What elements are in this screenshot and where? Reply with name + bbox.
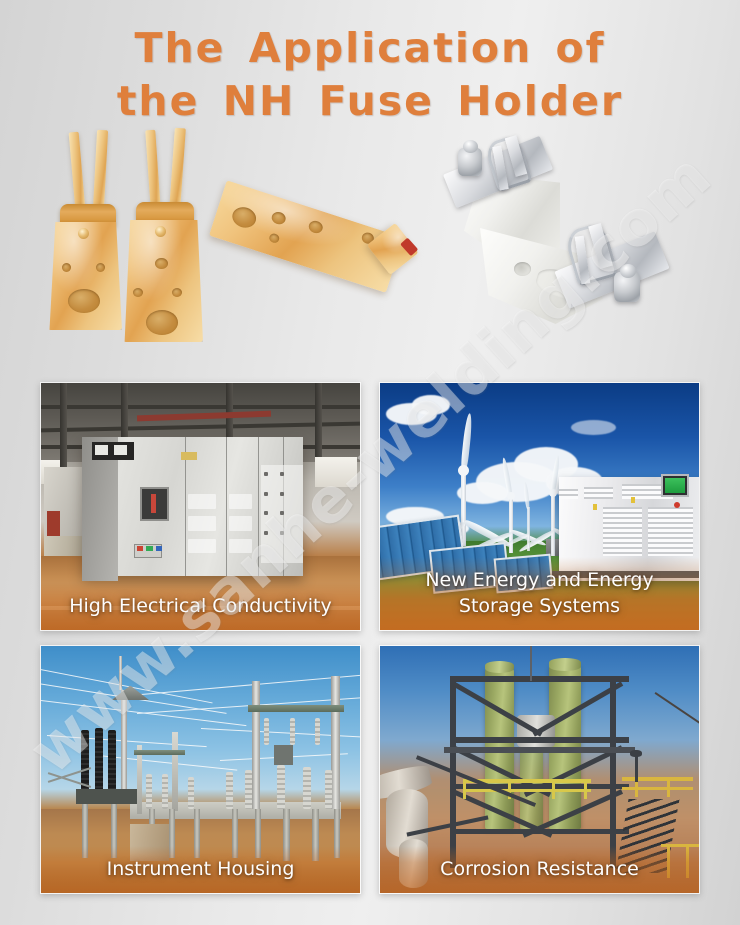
application-card-high-electrical-conductivity[interactable]: High Electrical Conductivity — [40, 382, 361, 631]
application-card-grid: High Electrical Conductivity — [40, 382, 700, 894]
application-card-new-energy-and-energy-storage-systems[interactable]: New Energy and Energy Storage Systems — [379, 382, 700, 631]
title-line-1: The Application of — [0, 22, 740, 75]
caption-line: Corrosion Resistance — [392, 856, 687, 882]
caption-line: High Electrical Conductivity — [53, 593, 348, 619]
caption-line: Instrument Housing — [53, 856, 348, 882]
card-caption: Corrosion Resistance — [380, 846, 699, 893]
caption-line: Storage Systems — [392, 593, 687, 619]
application-card-instrument-housing[interactable]: Instrument Housing — [40, 645, 361, 894]
page-title: The Application of the NH Fuse Holder — [0, 22, 740, 128]
hero-product-image — [0, 128, 740, 376]
copper-busbar-angled — [200, 159, 415, 322]
title-line-2: the NH Fuse Holder — [0, 75, 740, 128]
application-card-corrosion-resistance[interactable]: Corrosion Resistance — [379, 645, 700, 894]
white-fuse-holder-base — [418, 132, 668, 362]
caption-line: New Energy and Energy — [392, 567, 687, 593]
card-caption: New Energy and Energy Storage Systems — [380, 557, 699, 630]
card-caption: Instrument Housing — [41, 846, 360, 893]
card-caption: High Electrical Conductivity — [41, 583, 360, 630]
